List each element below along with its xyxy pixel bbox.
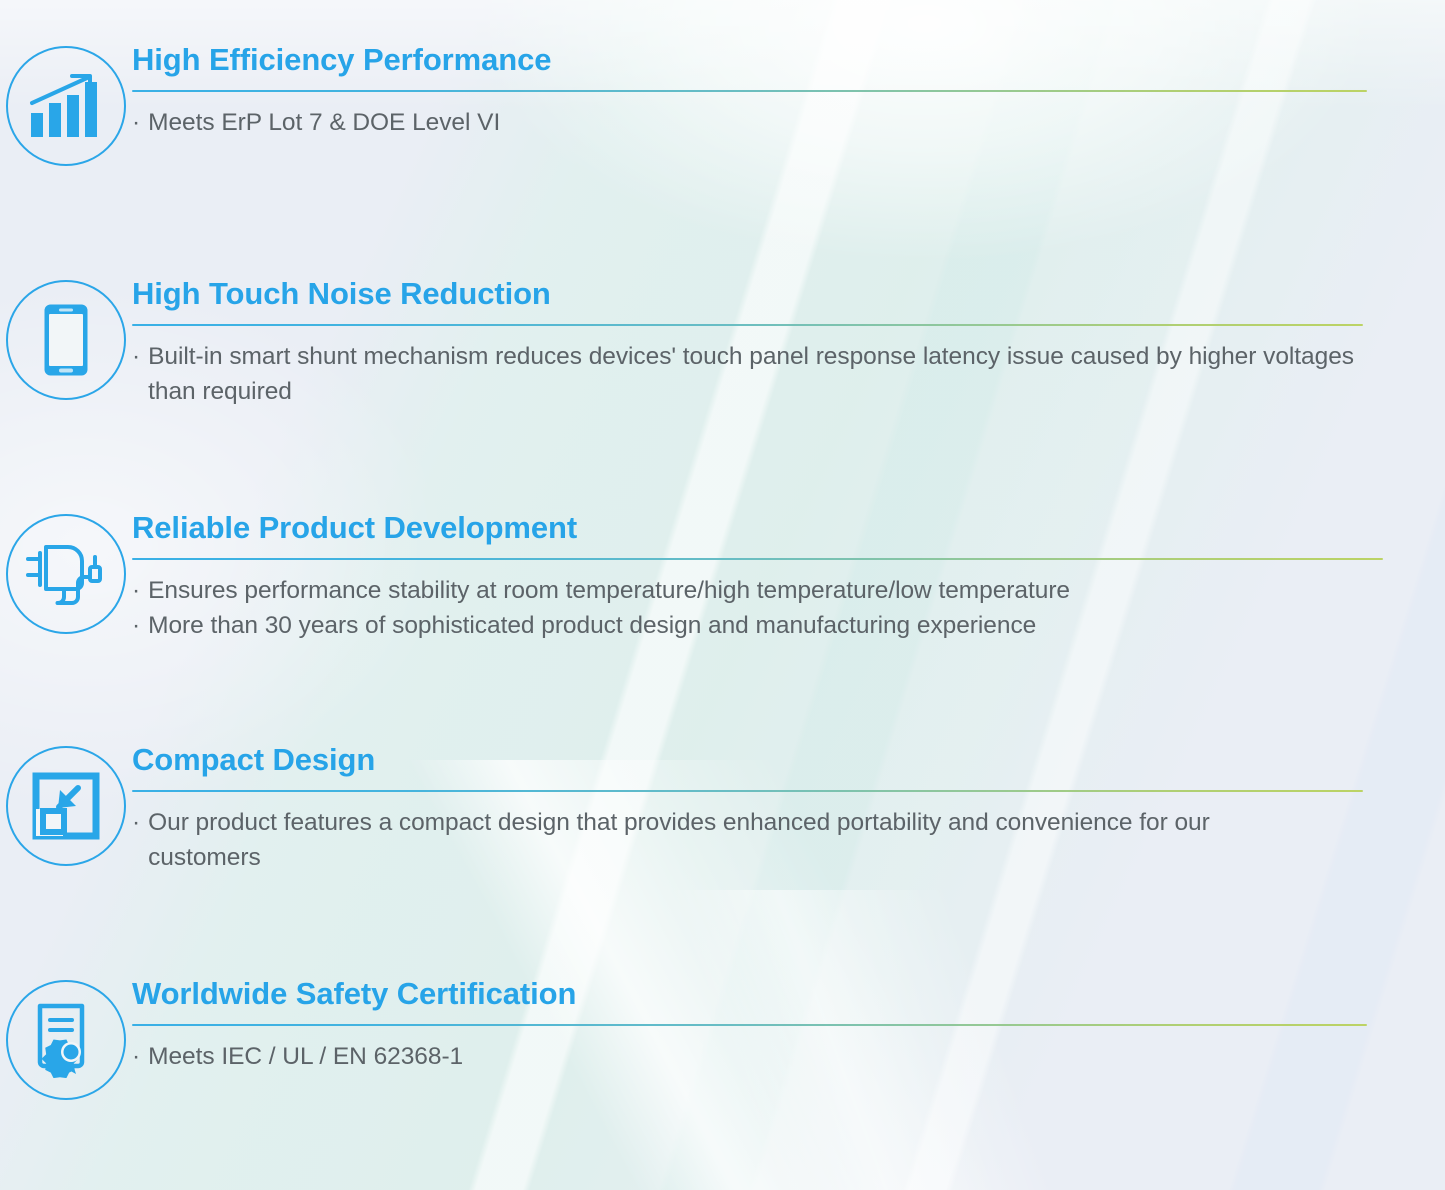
feature-icon-container xyxy=(0,510,132,634)
feature-row-compact-design: Compact Design · Our product features a … xyxy=(0,742,1445,876)
feature-row-high-efficiency-performance: High Efficiency Performance · Meets ErP … xyxy=(0,42,1445,166)
certificate-award-icon xyxy=(6,980,126,1100)
bullet-mark-icon: · xyxy=(132,105,148,140)
feature-text-block: Worldwide Safety Certification · Meets I… xyxy=(132,976,1445,1074)
feature-row-reliable-product-development: Reliable Product Development · Ensures p… xyxy=(0,510,1445,644)
feature-bullet-list: · Our product features a compact design … xyxy=(132,805,1363,876)
bullet-mark-icon: · xyxy=(132,573,148,608)
feature-bullet-text: Built-in smart shunt mechanism reduces d… xyxy=(148,339,1363,410)
feature-title: Compact Design xyxy=(132,742,1363,779)
feature-title: Reliable Product Development xyxy=(132,510,1383,547)
feature-text-block: High Efficiency Performance · Meets ErP … xyxy=(132,42,1445,140)
feature-bullet: · More than 30 years of sophisticated pr… xyxy=(132,608,1383,643)
feature-title: Worldwide Safety Certification xyxy=(132,976,1367,1013)
feature-bullet-text: Our product features a compact design th… xyxy=(148,805,1223,876)
feature-divider xyxy=(132,558,1383,561)
feature-text-block: High Touch Noise Reduction · Built-in sm… xyxy=(132,276,1445,410)
bullet-mark-icon: · xyxy=(132,1039,148,1074)
feature-bullet: · Built-in smart shunt mechanism reduces… xyxy=(132,339,1363,410)
feature-icon-container xyxy=(0,42,132,166)
feature-row-worldwide-safety-certification: Worldwide Safety Certification · Meets I… xyxy=(0,976,1445,1100)
feature-icon-container xyxy=(0,276,132,400)
feature-bullet-list: · Meets IEC / UL / EN 62368-1 xyxy=(132,1039,1367,1074)
feature-row-high-touch-noise-reduction: High Touch Noise Reduction · Built-in sm… xyxy=(0,276,1445,410)
feature-title: High Touch Noise Reduction xyxy=(132,276,1363,313)
feature-text-block: Reliable Product Development · Ensures p… xyxy=(132,510,1445,644)
power-adapter-icon xyxy=(6,514,126,634)
feature-bullet-list: · Ensures performance stability at room … xyxy=(132,573,1383,644)
feature-bullet-text: Meets IEC / UL / EN 62368-1 xyxy=(148,1039,1367,1074)
feature-bullet-list: · Meets ErP Lot 7 & DOE Level VI xyxy=(132,105,1367,140)
feature-bullet: · Meets ErP Lot 7 & DOE Level VI xyxy=(132,105,1367,140)
feature-divider xyxy=(132,324,1363,327)
feature-bullet-text: Ensures performance stability at room te… xyxy=(148,573,1383,608)
bar-chart-growth-icon xyxy=(6,46,126,166)
feature-bullet: · Our product features a compact design … xyxy=(132,805,1363,876)
bullet-mark-icon: · xyxy=(132,608,148,643)
feature-icon-container xyxy=(0,976,132,1100)
feature-divider xyxy=(132,90,1367,93)
feature-icon-container xyxy=(0,742,132,866)
feature-divider xyxy=(132,790,1363,793)
bullet-mark-icon: · xyxy=(132,339,148,410)
feature-bullet: · Ensures performance stability at room … xyxy=(132,573,1383,608)
feature-bullet-text: Meets ErP Lot 7 & DOE Level VI xyxy=(148,105,1367,140)
feature-title: High Efficiency Performance xyxy=(132,42,1367,79)
feature-divider xyxy=(132,1024,1367,1027)
feature-bullet-text: More than 30 years of sophisticated prod… xyxy=(148,608,1383,643)
smartphone-icon xyxy=(6,280,126,400)
feature-bullet-list: · Built-in smart shunt mechanism reduces… xyxy=(132,339,1363,410)
feature-text-block: Compact Design · Our product features a … xyxy=(132,742,1445,876)
feature-highlights-page: High Efficiency Performance · Meets ErP … xyxy=(0,0,1445,1190)
bullet-mark-icon: · xyxy=(132,805,148,876)
feature-list: High Efficiency Performance · Meets ErP … xyxy=(0,0,1445,1190)
feature-bullet: · Meets IEC / UL / EN 62368-1 xyxy=(132,1039,1367,1074)
compact-resize-icon xyxy=(6,746,126,866)
